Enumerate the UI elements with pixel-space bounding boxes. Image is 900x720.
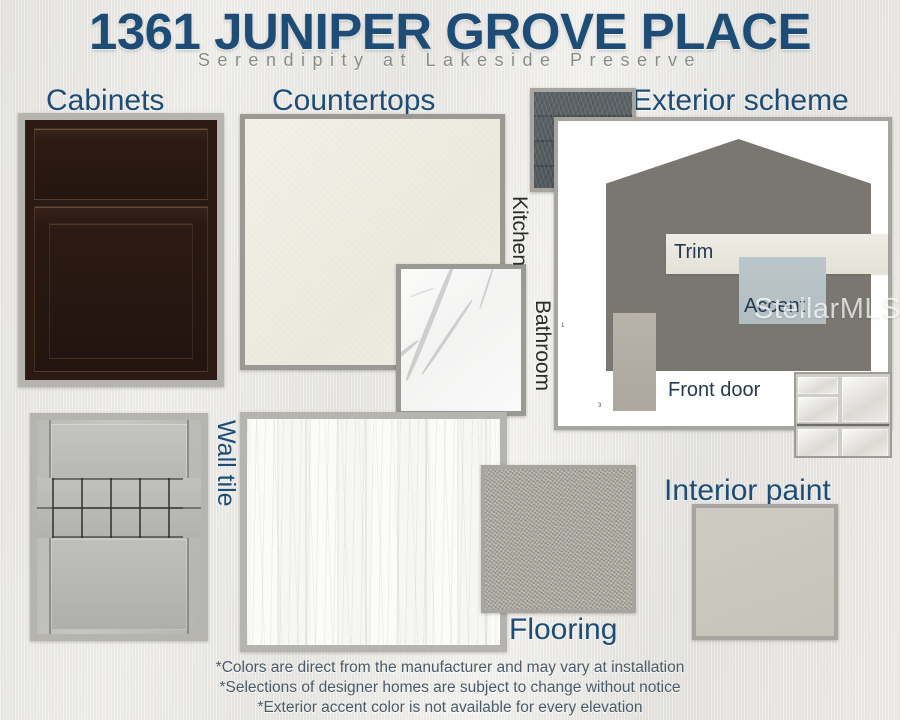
trim-label: Trim [674, 241, 713, 264]
interior-paint-heading: Interior paint [664, 474, 831, 508]
stone-veneer-swatch[interactable] [794, 372, 892, 458]
exterior-elevation-panel[interactable]: Trim Front door Accent StellarMLS 1 3 [554, 117, 892, 430]
wall-tile-lower-panel [51, 539, 187, 630]
disclaimer-line-3: *Exterior accent color is not available … [0, 698, 900, 718]
elevation-marker-3: 3 [598, 403, 601, 409]
cabinet-raised-panel [49, 223, 193, 359]
flooring-heading: Flooring [509, 613, 617, 647]
disclaimer-footer: *Colors are direct from the manufacturer… [0, 658, 900, 718]
front-door-label: Front door [668, 379, 760, 402]
front-door-color-swatch[interactable] [613, 313, 656, 411]
bathroom-label: Bathroom [530, 300, 554, 391]
elevation-marker-1: 1 [561, 323, 564, 329]
carpet-texture [485, 469, 632, 609]
cabinet-drawer-front [34, 128, 208, 200]
wall-tile-swatch[interactable] [30, 413, 208, 641]
interior-paint-swatch[interactable] [692, 504, 838, 640]
design-selection-board: 1361 JUNIPER GROVE PLACE Serendipity at … [0, 0, 900, 720]
wall-tile-upper-panel [51, 424, 187, 480]
accent-color-swatch[interactable]: Accent [739, 257, 826, 324]
disclaimer-line-1: *Colors are direct from the manufacturer… [0, 658, 900, 678]
wall-tile-mosaic-band [37, 478, 201, 538]
countertops-heading: Countertops [272, 84, 435, 118]
wood-grain-texture [247, 419, 500, 645]
accent-label: Accent [744, 295, 805, 318]
house-roof-shape [606, 139, 871, 234]
exterior-scheme-heading: Exterior scheme [632, 84, 849, 118]
wall-tile-label: Wall tile [211, 420, 240, 507]
kitchen-label: Kitchen [507, 196, 531, 266]
bathroom-countertop-swatch[interactable] [396, 264, 526, 416]
page-subtitle: Serendipity at Lakeside Preserve [0, 50, 900, 71]
carpet-flooring-swatch[interactable] [481, 465, 636, 613]
disclaimer-line-2: *Selections of designer homes are subjec… [0, 678, 900, 698]
wood-flooring-swatch[interactable] [240, 412, 507, 652]
cabinet-face [25, 120, 217, 380]
cabinet-door-front [34, 206, 208, 372]
cabinet-swatch[interactable] [18, 113, 224, 387]
